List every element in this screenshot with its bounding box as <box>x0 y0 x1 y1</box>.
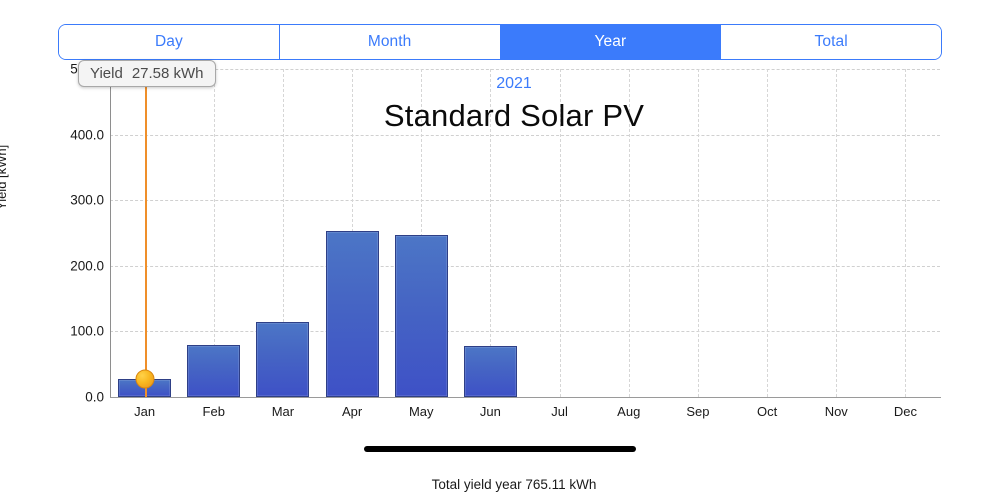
x-tick-label: Jun <box>480 404 501 419</box>
x-tick-label: Jan <box>134 404 155 419</box>
gridline-horizontal <box>110 331 940 332</box>
bar-feb[interactable] <box>187 345 240 397</box>
x-tick-label: Nov <box>825 404 848 419</box>
x-tick-label: Mar <box>272 404 294 419</box>
x-tick-label: Apr <box>342 404 362 419</box>
gridline-horizontal <box>110 69 940 70</box>
value-tooltip: Yield 27.58 kWh <box>78 60 216 87</box>
bar-may[interactable] <box>395 235 448 397</box>
chart-title: Standard Solar PV <box>14 98 1000 134</box>
y-tick-label: 200.0 <box>70 258 104 273</box>
x-tick-label: May <box>409 404 434 419</box>
gridline-horizontal <box>110 135 940 136</box>
selection-marker-dot[interactable] <box>135 369 154 388</box>
x-tick-label: Sep <box>686 404 709 419</box>
x-axis-line <box>110 397 941 398</box>
bar-mar[interactable] <box>256 322 309 397</box>
tab-total[interactable]: Total <box>721 25 941 59</box>
gridline-horizontal <box>110 266 940 267</box>
x-tick-label: Dec <box>894 404 917 419</box>
tab-month[interactable]: Month <box>280 25 501 59</box>
tab-year[interactable]: Year <box>501 25 722 59</box>
y-axis-title: Yield [kWh] <box>0 145 9 210</box>
x-tick-label: Oct <box>757 404 777 419</box>
yield-bar-chart[interactable]: 0.0100.0200.0300.0400.0500.0 Yield [kWh]… <box>0 60 1000 420</box>
x-tick-label: Aug <box>617 404 640 419</box>
y-tick-label: 300.0 <box>70 193 104 208</box>
x-tick-label: Feb <box>203 404 225 419</box>
x-tick-label: Jul <box>551 404 568 419</box>
tooltip-value: 27.58 kWh <box>132 65 204 82</box>
total-yield-caption: Total yield year 765.11 kWh <box>14 477 1000 492</box>
gridline-horizontal <box>110 200 940 201</box>
y-tick-label: 100.0 <box>70 324 104 339</box>
y-tick-label: 0.0 <box>85 390 104 405</box>
tab-day[interactable]: Day <box>59 25 280 59</box>
home-indicator[interactable] <box>364 446 636 452</box>
period-segmented-control[interactable]: Day Month Year Total <box>58 24 942 60</box>
bar-jun[interactable] <box>464 346 517 397</box>
bar-apr[interactable] <box>326 231 379 397</box>
tooltip-metric-label: Yield <box>90 65 123 82</box>
